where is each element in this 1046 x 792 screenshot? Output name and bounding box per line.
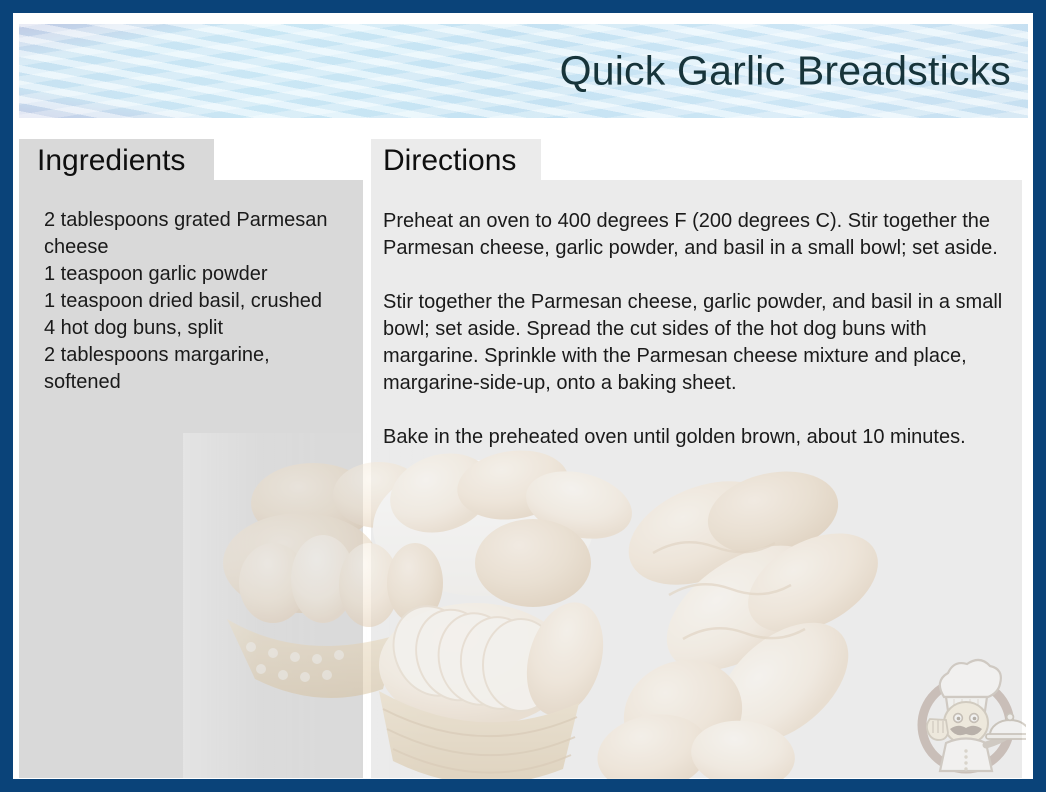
list-item: 1 teaspoon dried basil, crushed xyxy=(44,288,350,315)
page-title: Quick Garlic Breadsticks xyxy=(560,51,1011,92)
direction-paragraph: Bake in the preheated oven until golden … xyxy=(383,424,1015,451)
direction-paragraph: Preheat an oven to 400 degrees F (200 de… xyxy=(383,208,1015,262)
header-banner: Quick Garlic Breadsticks xyxy=(19,24,1028,118)
list-item: 4 hot dog buns, split xyxy=(44,315,350,342)
recipe-card-slide: Quick Garlic Breadsticks Ingredients 2 t… xyxy=(0,0,1046,792)
ingredients-heading: Ingredients xyxy=(37,146,185,176)
direction-paragraph: Stir together the Parmesan cheese, garli… xyxy=(383,289,1015,397)
tab-directions: Directions xyxy=(371,139,541,183)
ingredients-list: 2 tablespoons grated Parmesan cheese 1 t… xyxy=(44,207,350,396)
list-item: 2 tablespoons margarine, softened xyxy=(44,342,350,396)
ingredients-panel: 2 tablespoons grated Parmesan cheese 1 t… xyxy=(19,180,363,778)
directions-body: Preheat an oven to 400 degrees F (200 de… xyxy=(383,208,1015,451)
list-item: 2 tablespoons grated Parmesan cheese xyxy=(44,207,350,261)
card-inner-field: Quick Garlic Breadsticks Ingredients 2 t… xyxy=(13,13,1033,779)
tab-ingredients: Ingredients xyxy=(19,139,214,183)
directions-panel: Preheat an oven to 400 degrees F (200 de… xyxy=(371,180,1022,778)
directions-heading: Directions xyxy=(383,146,516,176)
list-item: 1 teaspoon garlic powder xyxy=(44,261,350,288)
